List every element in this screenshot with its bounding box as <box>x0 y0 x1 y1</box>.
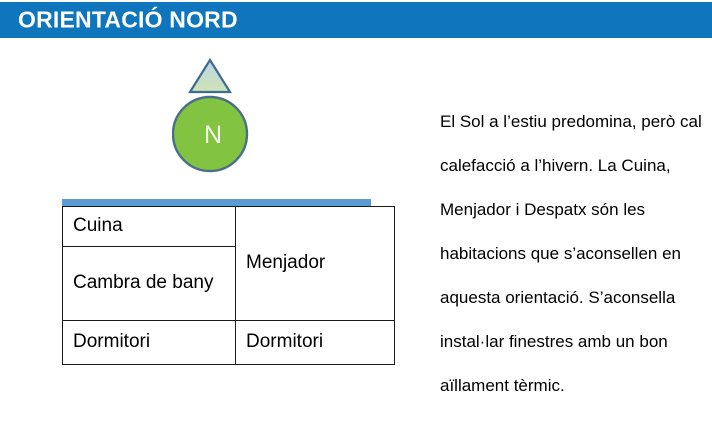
orientation-description-text: El Sol a l’estiu predomina, però cal cal… <box>440 100 702 408</box>
compass-circle <box>173 97 247 171</box>
table-accent-bar <box>62 199 371 206</box>
table-cell-room-right: Menjador <box>236 207 395 321</box>
table-row: Dormitori Dormitori <box>63 321 395 365</box>
page-title: ORIENTACIÓ NORD <box>18 7 238 34</box>
north-arrow-triangle-icon <box>190 60 230 92</box>
table-cell-room-right: Dormitori <box>236 321 395 365</box>
table-cell-room-left: Cambra de bany <box>63 247 236 321</box>
table-cell-room-left: Dormitori <box>63 321 236 365</box>
compass-svg <box>172 56 254 176</box>
room-orientation-table: Cuina Menjador Cambra de bany Dormitori … <box>62 206 395 365</box>
compass-graphic: N <box>172 56 254 176</box>
table-row: Cuina Menjador <box>63 207 395 247</box>
header-band: ORIENTACIÓ NORD <box>0 2 712 38</box>
table-cell-room-left: Cuina <box>63 207 236 247</box>
